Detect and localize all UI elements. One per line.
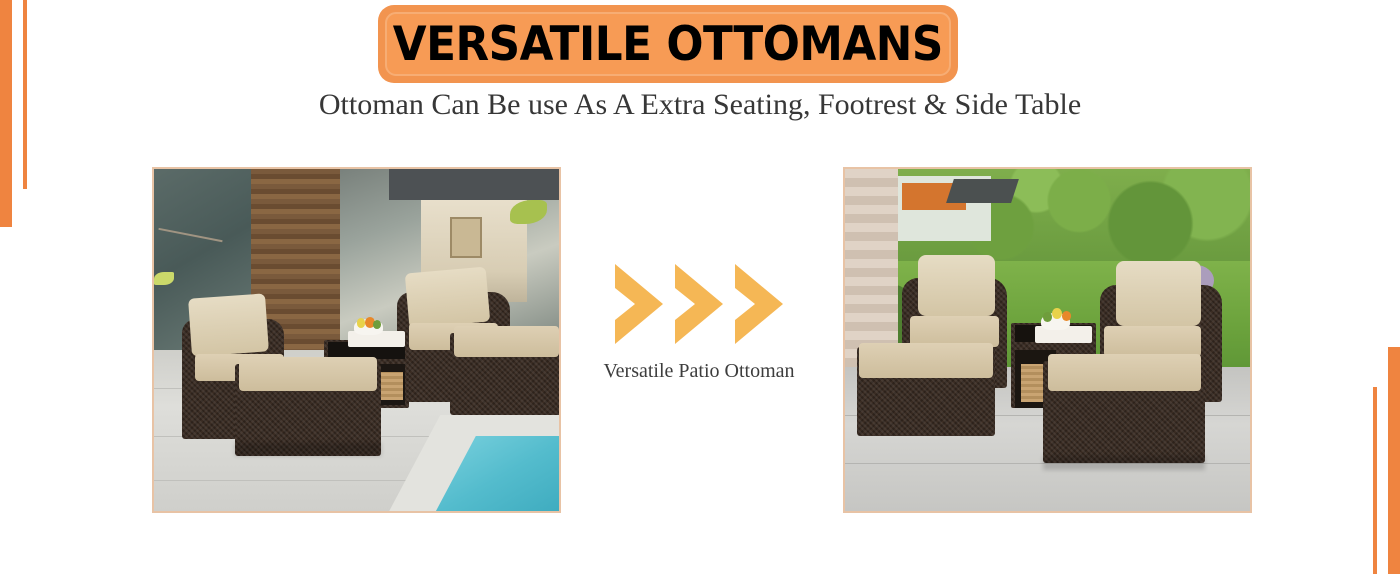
furniture-shadow [1043, 456, 1205, 470]
title-banner-inner: VERSATILE OTTOMANS [385, 12, 951, 76]
ottoman-cushion-right [1048, 354, 1202, 392]
back-pillow-left [189, 293, 270, 356]
page-title: VERSATILE OTTOMANS [393, 21, 943, 68]
title-banner: VERSATILE OTTOMANS [378, 5, 958, 83]
product-photo-garden [843, 167, 1252, 513]
product-photo-poolside [152, 167, 561, 513]
right-accent-bar-thin [1373, 387, 1377, 574]
fruit-green [373, 320, 381, 329]
back-pillow-left [918, 255, 995, 317]
photo-scene-poolside [154, 169, 559, 511]
chevron-right-icon [611, 260, 667, 348]
seat-cushion-left [910, 316, 999, 347]
photo-scene-garden [845, 169, 1250, 511]
fruit-green [1043, 312, 1052, 322]
fruit-lemon [357, 318, 366, 328]
page-subtitle: Ottoman Can Be use As A Extra Seating, F… [0, 88, 1400, 122]
scene-wall-art [450, 217, 482, 259]
back-pillow-right [1116, 261, 1201, 326]
transition-arrows-block: Versatile Patio Ottoman [601, 260, 797, 383]
ottoman-cushion-left [239, 357, 377, 391]
triple-chevron-right-icon [601, 260, 797, 348]
ottoman-cushion-left [859, 343, 993, 377]
scene-roof [946, 179, 1019, 203]
fruit-lemon [1052, 308, 1063, 320]
arrows-caption: Versatile Patio Ottoman [601, 360, 797, 383]
chevron-right-icon [671, 260, 727, 348]
right-accent-bar-thick [1388, 347, 1400, 574]
furniture-shadow [235, 443, 381, 457]
product-infographic-page: VERSATILE OTTOMANS Ottoman Can Be use As… [0, 0, 1400, 574]
scene-roof-beam [389, 169, 559, 200]
chevron-right-icon [731, 260, 787, 348]
ottoman-cushion-right [454, 326, 559, 357]
back-pillow-right [405, 266, 490, 328]
seat-cushion-right [1104, 326, 1201, 357]
